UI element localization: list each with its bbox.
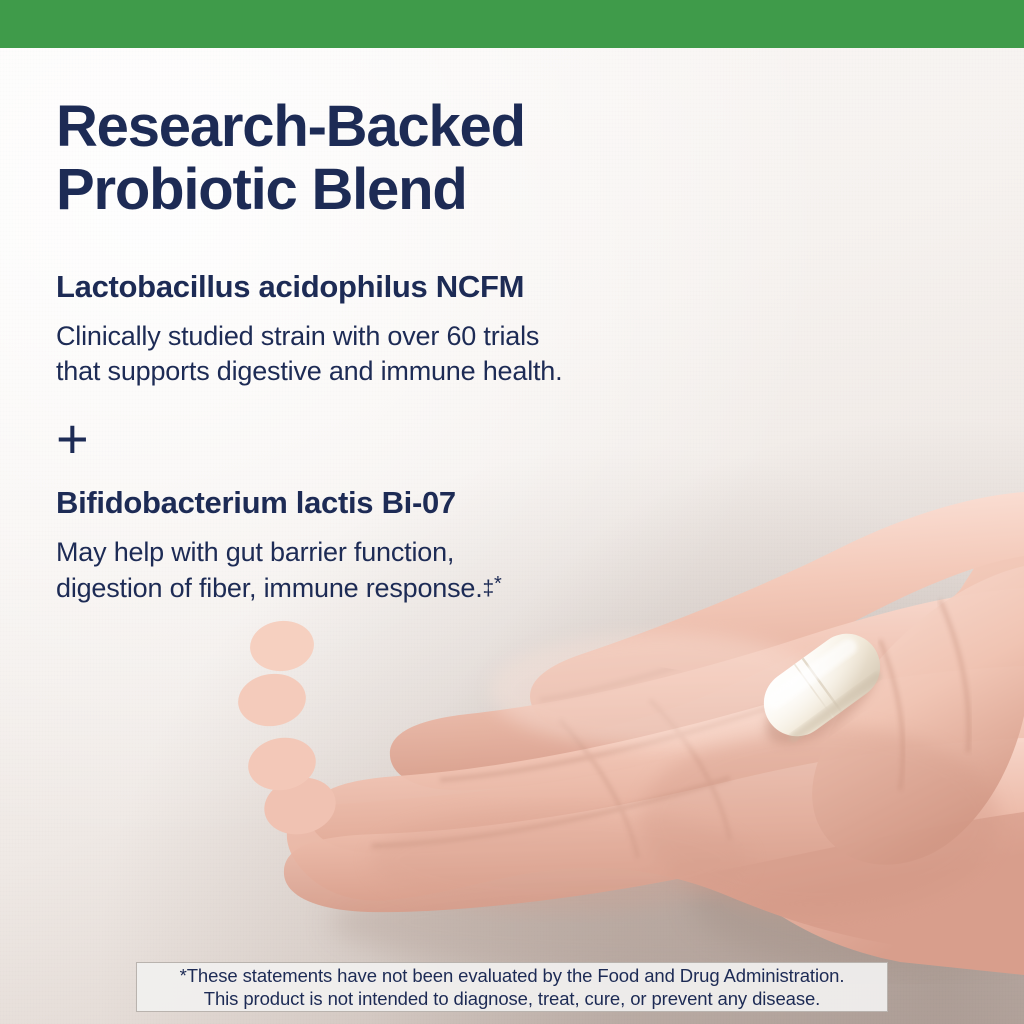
strain-description-2: May help with gut barrier function, dige… — [56, 535, 756, 605]
plus-separator: + — [56, 411, 756, 467]
page-title: Research-Backed Probiotic Blend — [56, 96, 756, 221]
product-infographic: Research-Backed Probiotic Blend Lactobac… — [0, 0, 1024, 1024]
double-dagger-symbol: ‡ — [483, 577, 494, 600]
plus-icon: + — [56, 407, 89, 470]
content-column: Research-Backed Probiotic Blend Lactobac… — [56, 96, 756, 606]
strain-description-1: Clinically studied strain with over 60 t… — [56, 319, 756, 389]
strain-description-2-text: May help with gut barrier function, dige… — [56, 537, 483, 602]
strain-name-1: Lactobacillus acidophilus NCFM — [56, 269, 756, 305]
strain-name-2: Bifidobacterium lactis Bi-07 — [56, 485, 756, 521]
fda-disclaimer-text: *These statements have not been evaluate… — [180, 964, 845, 1011]
asterisk-symbol: * — [494, 573, 502, 595]
fda-disclaimer-box: *These statements have not been evaluate… — [136, 962, 888, 1012]
